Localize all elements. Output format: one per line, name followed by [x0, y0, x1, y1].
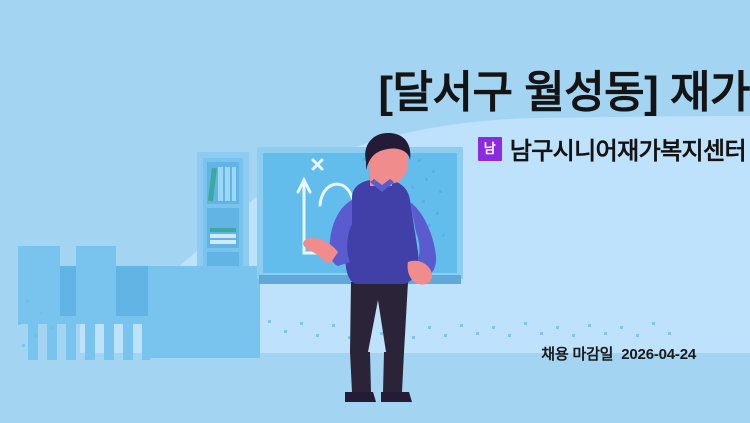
shoe-left	[345, 392, 376, 402]
office-illustration	[0, 0, 750, 423]
shoe-right	[381, 392, 412, 402]
job-posting-banner: [달서구 월성동] 재가 남 남구시니어재가복지센터 채용 마감일2026-04…	[0, 0, 750, 423]
shirt	[345, 179, 418, 284]
floor	[0, 353, 750, 423]
